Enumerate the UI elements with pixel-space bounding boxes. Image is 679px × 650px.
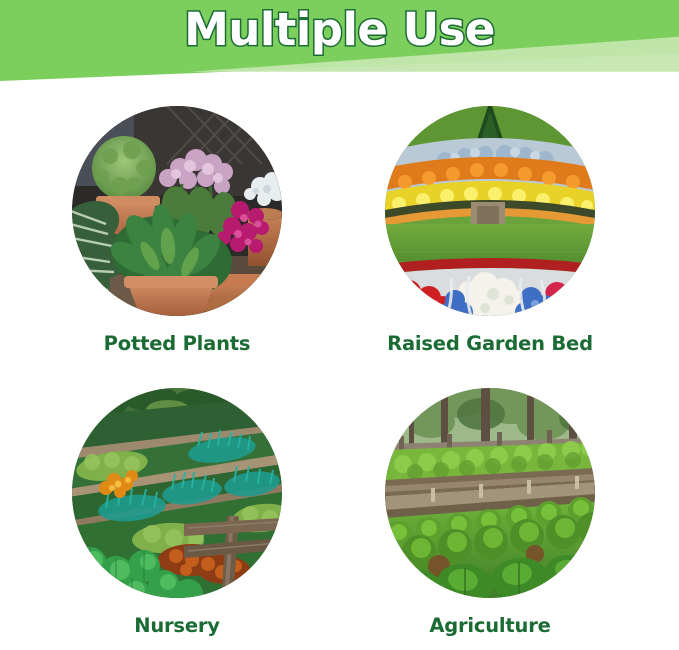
photo-agriculture [385, 388, 595, 598]
card-nursery: Nursery [22, 388, 332, 637]
photo-raised-garden-bed [385, 106, 595, 316]
card-potted-plants: Potted Plants [22, 106, 332, 355]
caption-raised-garden-bed: Raised Garden Bed [335, 332, 645, 355]
caption-nursery: Nursery [22, 614, 332, 637]
photo-potted-plants [72, 106, 282, 316]
page-title: Multiple Use [0, 2, 679, 58]
card-raised-garden-bed: Raised Garden Bed [335, 106, 645, 355]
header-banner: Multiple Use [0, 0, 679, 92]
use-case-grid: Potted Plants [0, 92, 679, 650]
caption-agriculture: Agriculture [335, 614, 645, 637]
photo-nursery [72, 388, 282, 598]
caption-potted-plants: Potted Plants [22, 332, 332, 355]
card-agriculture: Agriculture [335, 388, 645, 637]
